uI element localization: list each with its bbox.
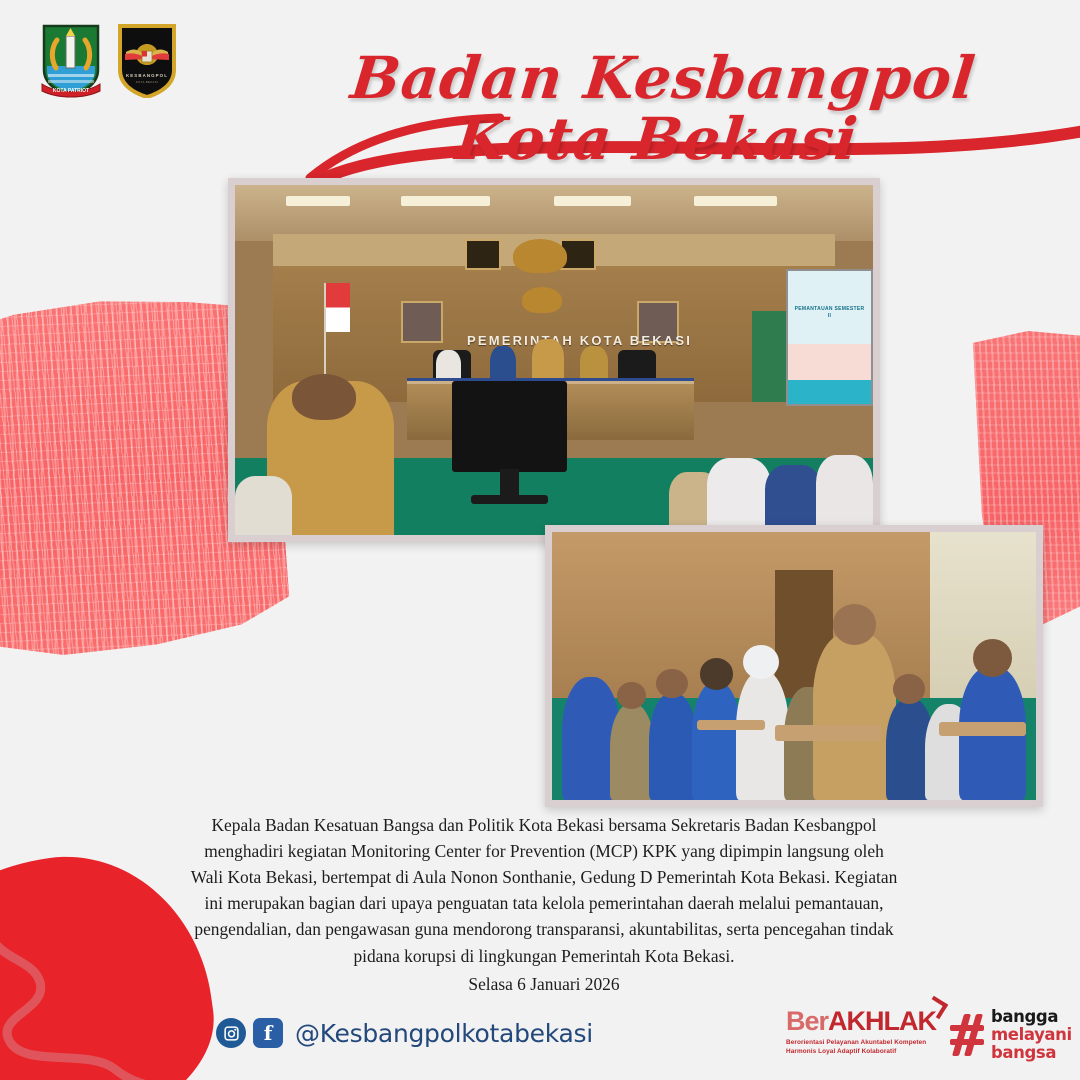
caption-body: Kepala Badan Kesatuan Bangsa dan Politik… (186, 812, 902, 969)
bangga-line-2: melayani (991, 1026, 1072, 1044)
bangga-melayani-bangsa-logo: bangga melayani bangsa (950, 1008, 1072, 1061)
page-title: Badan Kesbangpol Kota Bekasi (284, 48, 1037, 170)
berakhlak-wordmark: BerAKHLAK (786, 1008, 936, 1035)
photo-audience (545, 525, 1043, 807)
emblem-label-text: KESBANGPOL (126, 73, 168, 78)
berakhlak-tagline-line1: Berorientasi Pelayanan Akuntabel Kompete… (786, 1038, 936, 1047)
berakhlak-prefix: Ber (786, 1006, 828, 1036)
berakhlak-logo: BerAKHLAK Berorientasi Pelayanan Akuntab… (786, 1008, 936, 1057)
photo-screen-text: PEMANTAUAN SEMESTER II (793, 306, 866, 321)
photo-meeting-hall: PEMERINTAH KOTA BEKASI PEMANTAUAN SEMEST… (228, 178, 880, 542)
bangga-wordmark: bangga melayani bangsa (991, 1008, 1072, 1061)
emblem-row: KOTA PATRIOT KESBANGPOL KOTA BEKASI (40, 22, 178, 98)
bangga-line-3: bangsa (991, 1044, 1072, 1062)
emblem-ribbon-text: KOTA PATRIOT (53, 88, 89, 94)
poster-canvas: KOTA PATRIOT KESBANGPOL KOTA BEKASI Bada… (0, 0, 1080, 1080)
kesbangpol-emblem: KESBANGPOL KOTA BEKASI (116, 22, 178, 98)
emblem-sublabel-text: KOTA BEKASI (136, 80, 159, 84)
instagram-icon[interactable] (216, 1018, 246, 1048)
caption-date: Selasa 6 Januari 2026 (186, 971, 902, 997)
photo-sign-text: PEMERINTAH KOTA BEKASI (446, 325, 714, 357)
kota-bekasi-emblem: KOTA PATRIOT (40, 22, 102, 98)
berakhlak-tagline-line2: Harmonis Loyal Adaptif Kolaboratif (786, 1047, 936, 1056)
bangga-line-1: bangga (991, 1008, 1072, 1026)
hash-icon (950, 1014, 984, 1056)
berakhlak-main: AKHLAK (828, 1006, 936, 1036)
social-handle[interactable]: @Kesbangpolkotabekasi (295, 1019, 593, 1048)
social-block[interactable]: f @Kesbangpolkotabekasi (216, 1018, 593, 1048)
facebook-icon[interactable]: f (253, 1018, 283, 1048)
caption-block: Kepala Badan Kesatuan Bangsa dan Politik… (186, 812, 902, 997)
